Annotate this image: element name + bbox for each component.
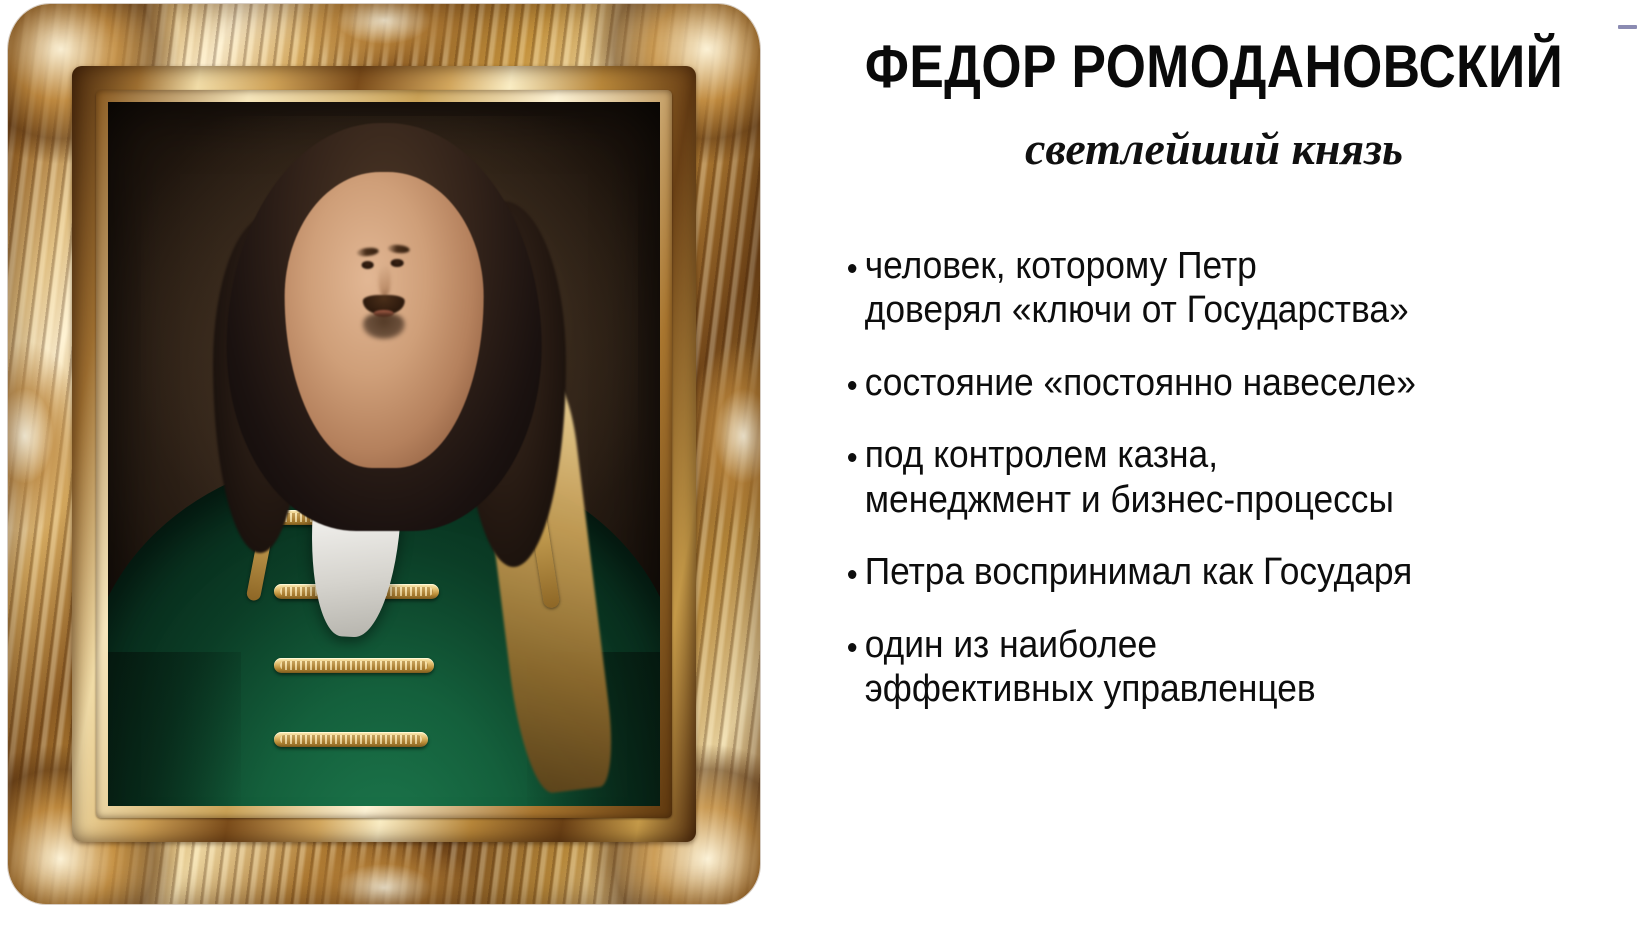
portrait-canvas [108,102,660,806]
portrait-nose [379,264,391,297]
coat-braid-4 [274,732,429,747]
list-item: состояние «постоянно навеселе» [848,361,1583,405]
portrait-eyebrow-left [356,247,379,257]
text-panel: ФЕДОР РОМОДАНОВСКИЙ светлейший князь чел… [790,0,1646,926]
picture-frame [8,4,760,904]
portrait-face [285,172,484,468]
portrait-eye-right [391,259,403,267]
page-subtitle: светлейший князь [790,124,1638,175]
corner-dash-artifact [1618,25,1637,29]
coat-shadow-left [108,652,241,806]
slide-root: ФЕДОР РОМОДАНОВСКИЙ светлейший князь чел… [0,0,1646,926]
page-title: ФЕДОР РОМОДАНОВСКИЙ [849,36,1578,98]
bullet-list: человек, которому Петр доверял «ключи от… [848,244,1638,712]
portrait-beard-shadow [363,313,405,340]
list-item: человек, которому Петр доверял «ключи от… [848,244,1583,333]
list-item: один из наиболее эффективных управленцев [848,623,1583,712]
portrait-eye-left [361,261,373,269]
portrait-panel [0,0,775,926]
list-item: Петра воспринимал как Государя [848,550,1583,594]
portrait-eyebrow-right [388,244,410,254]
coat-braid-3 [274,658,434,673]
list-item: под контролем казна, менеджмент и бизнес… [848,433,1583,522]
